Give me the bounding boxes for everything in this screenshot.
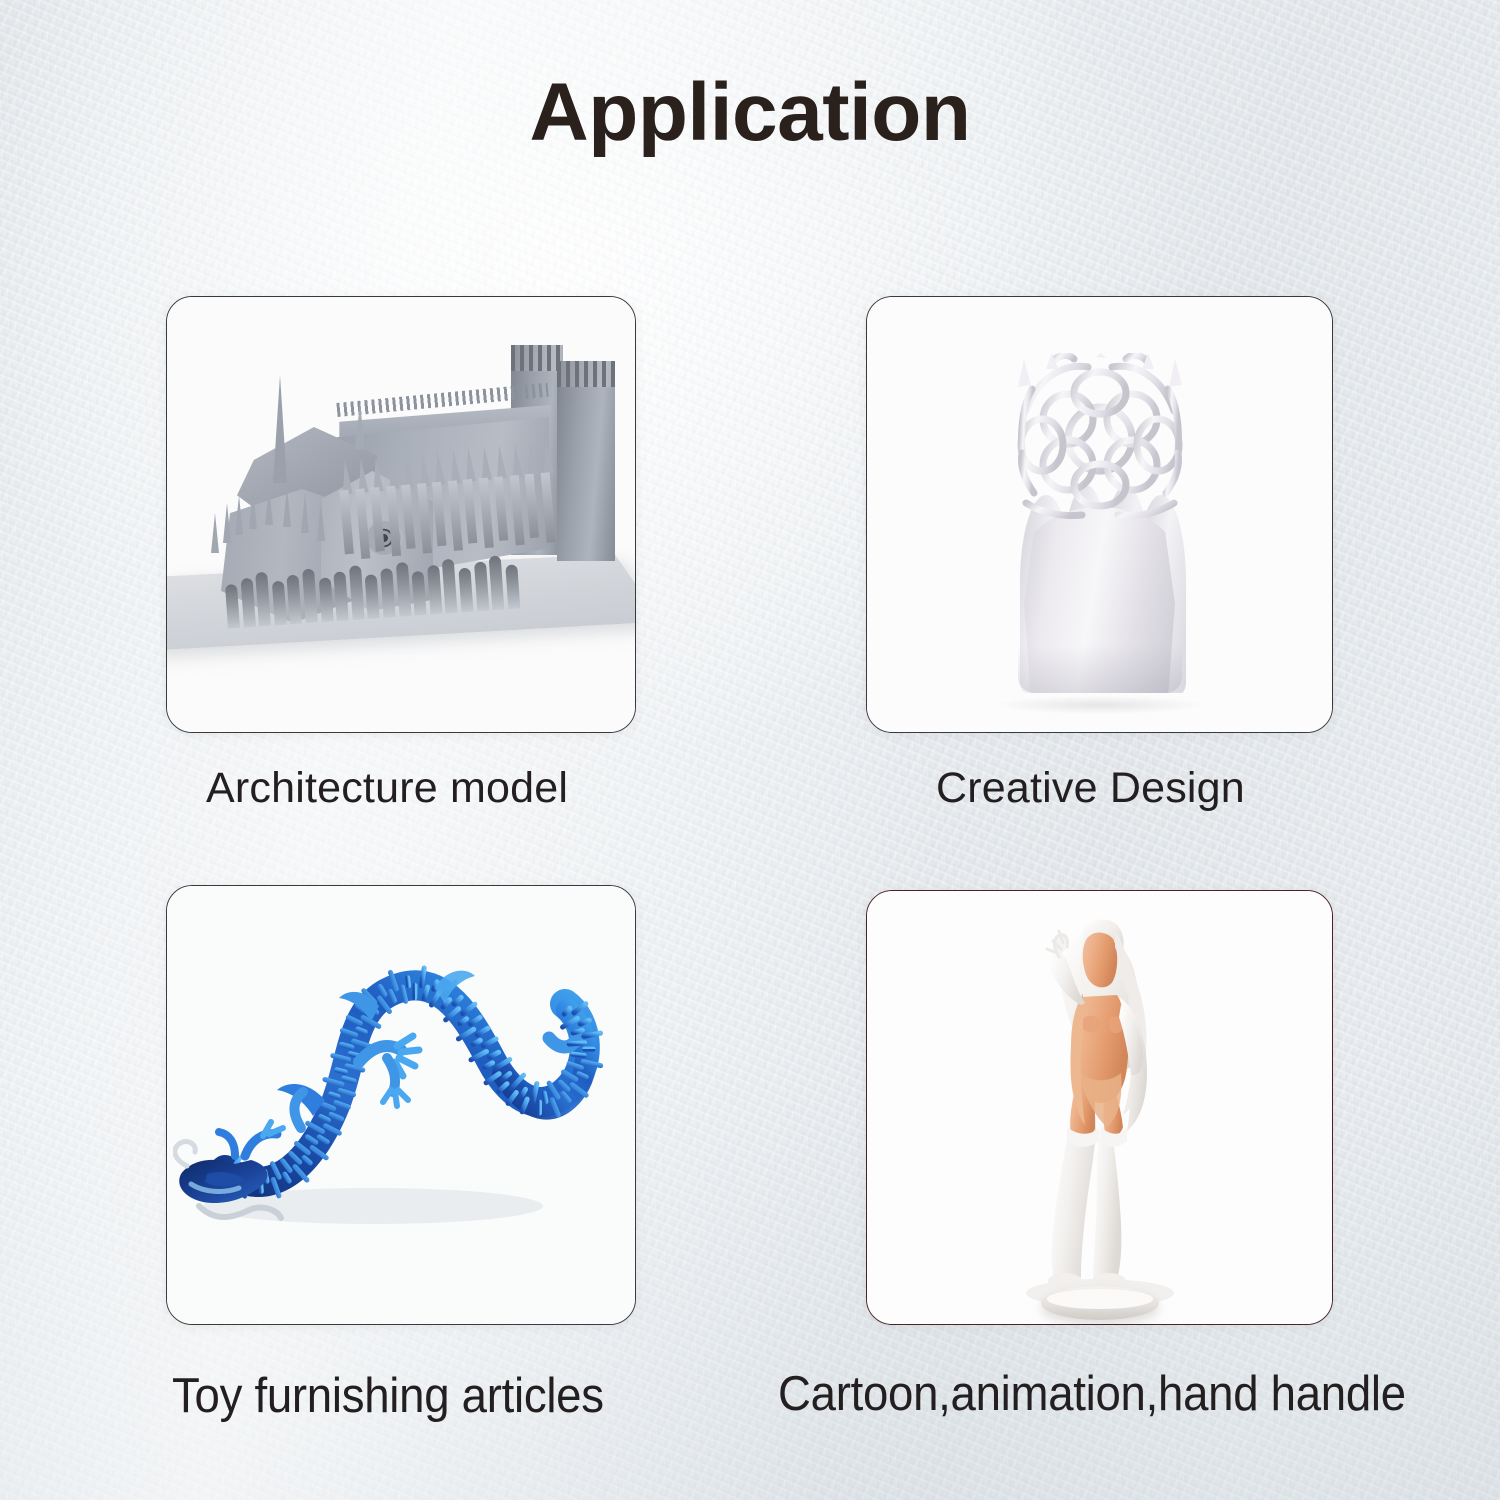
cathedral-photo (167, 297, 635, 732)
figurine-photo (867, 891, 1332, 1324)
card-toy-furnishing-articles[interactable] (166, 885, 636, 1325)
vase-model (1000, 345, 1200, 693)
card-architecture-model-image (167, 297, 635, 732)
card-architecture-model[interactable] (166, 296, 636, 733)
dragon-photo (167, 886, 635, 1324)
label-creative-design: Creative Design (936, 764, 1245, 813)
vase-lattice-pattern (1012, 353, 1188, 525)
cathedral-tower-right (557, 361, 615, 561)
vase-body-shading (1018, 645, 1182, 693)
cathedral-spire (273, 375, 287, 483)
figurine-base (1041, 1286, 1159, 1320)
label-cartoon-animation-hand-handle: Cartoon,animation,hand handle (778, 1366, 1406, 1422)
card-cartoon-animation-hand-handle-image (867, 891, 1332, 1324)
card-creative-design[interactable] (866, 296, 1333, 733)
cathedral-model (185, 339, 615, 651)
card-creative-design-image (867, 297, 1332, 732)
label-architecture-model: Architecture model (206, 764, 568, 813)
vase-drop-shadow (995, 696, 1205, 714)
card-toy-furnishing-articles-image (167, 886, 635, 1324)
card-cartoon-animation-hand-handle[interactable] (866, 890, 1333, 1325)
figurine-model (985, 901, 1215, 1321)
application-page: Application (0, 0, 1500, 1500)
vase-photo (867, 297, 1332, 732)
page-title: Application (0, 66, 1500, 160)
label-toy-furnishing-articles: Toy furnishing articles (172, 1368, 604, 1424)
dragon-model (173, 934, 621, 1264)
cathedral-fleche (355, 403, 365, 449)
cathedral-apse-pinnacles (209, 485, 349, 545)
